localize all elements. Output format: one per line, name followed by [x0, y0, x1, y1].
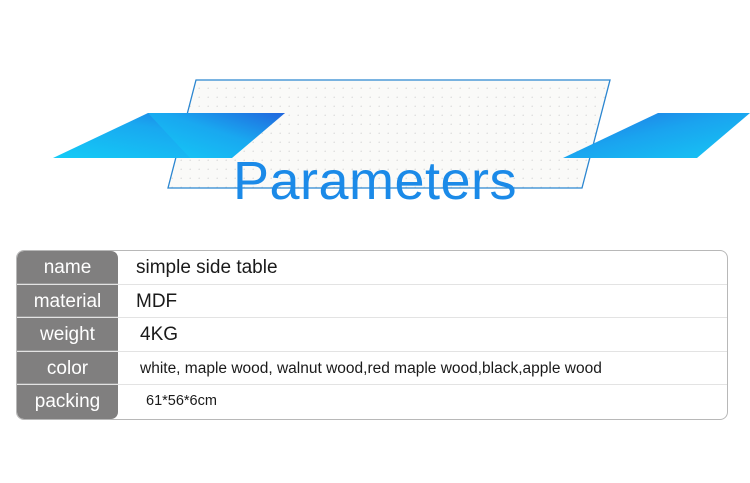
spec-value-packing: 61*56*6cm	[118, 385, 727, 419]
table-row: packing 61*56*6cm	[17, 385, 727, 419]
spec-label-weight: weight	[17, 318, 118, 351]
spec-label-color: color	[17, 352, 118, 385]
spec-label-packing: packing	[17, 385, 118, 419]
spec-value-material: MDF	[118, 285, 727, 318]
banner-graphic	[0, 60, 750, 200]
parameters-banner: Parameters	[0, 60, 750, 200]
spec-value-name: simple side table	[118, 251, 727, 284]
table-row: name simple side table	[17, 251, 727, 285]
table-row: weight 4KG	[17, 318, 727, 352]
spec-value-weight: 4KG	[118, 318, 727, 351]
spec-label-name: name	[17, 251, 118, 284]
parameters-page: Parameters name simple side table materi…	[0, 0, 750, 483]
specifications-table: name simple side table material MDF weig…	[16, 250, 728, 420]
table-row: material MDF	[17, 285, 727, 319]
table-row: color white, maple wood, walnut wood,red…	[17, 352, 727, 386]
spec-label-material: material	[17, 285, 118, 318]
spec-value-color: white, maple wood, walnut wood,red maple…	[118, 352, 727, 385]
